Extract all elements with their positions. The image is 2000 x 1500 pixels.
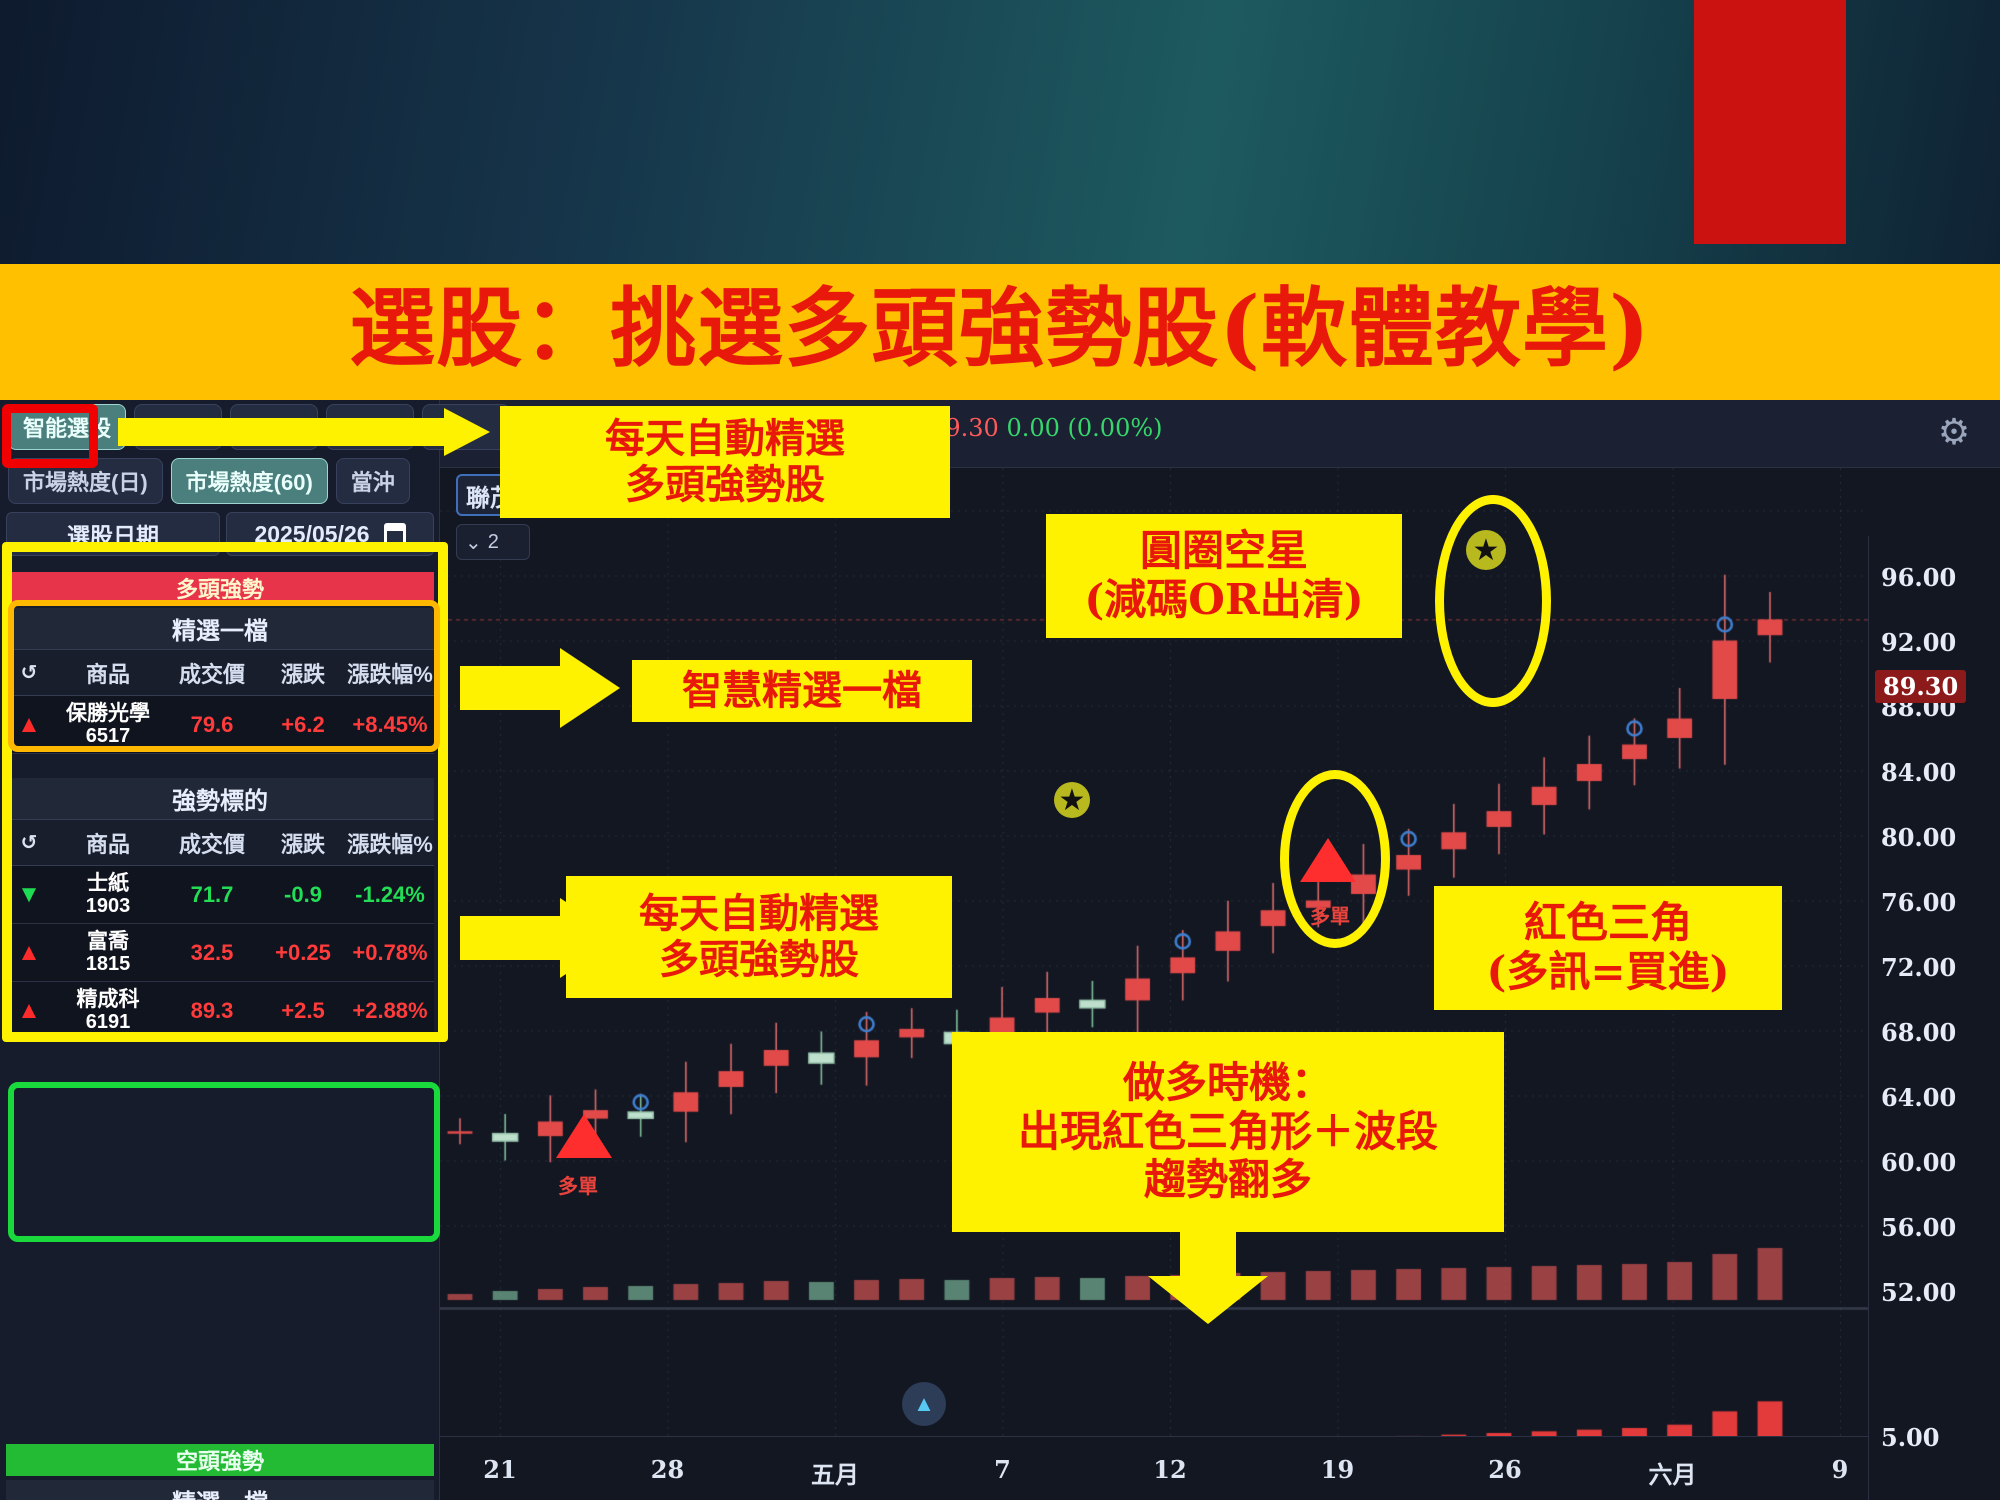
annotation-line: 趨勢翻多	[1144, 1156, 1312, 1205]
annotation-long-timing: 做多時機：出現紅色三角形＋波段趨勢翻多	[952, 1032, 1504, 1232]
price-tick: 92.00	[1881, 628, 1956, 657]
annotation-line: 紅色三角	[1524, 899, 1692, 948]
time-tick: 六月	[1649, 1455, 1697, 1490]
price-tick: 72.00	[1881, 953, 1956, 982]
time-tick: 五月	[811, 1455, 859, 1490]
quote-change: 0.00	[1006, 414, 1059, 442]
period-value: 2	[488, 531, 499, 554]
red-triangle-label-left: 多單	[558, 1170, 598, 1199]
highlight-ellipse-top	[1435, 495, 1551, 707]
price-tick: 64.00	[1881, 1083, 1956, 1112]
time-tick: 21	[483, 1455, 516, 1484]
time-axis[interactable]: 2128五月7121926六月9	[440, 1436, 1868, 1500]
time-tick: 9	[1832, 1455, 1849, 1484]
time-tick: 26	[1488, 1455, 1521, 1484]
highlight-long-featured	[8, 600, 440, 752]
star-marker-left: ★	[1054, 782, 1090, 818]
page-title: 選股：挑選多頭強勢股(軟體教學)	[0, 274, 2000, 384]
price-tick: 52.00	[1881, 1278, 1956, 1307]
time-tick: 7	[994, 1455, 1011, 1484]
price-axis[interactable]: 96.0092.0088.0084.0080.0076.0072.0068.00…	[1868, 536, 2000, 1500]
table-title: 精選一檔	[6, 1480, 434, 1500]
annotation-line: 圓圈空星	[1140, 527, 1308, 576]
price-tick: 84.00	[1881, 758, 1956, 787]
screener-subtab-當沖[interactable]: 當沖	[336, 458, 410, 504]
time-tick: 19	[1321, 1455, 1354, 1484]
volume-tick: 5.00	[1881, 1423, 1939, 1452]
annotation-line: 智慧精選一檔	[682, 668, 922, 714]
price-tick: 60.00	[1881, 1148, 1956, 1177]
annotation-line: 出現紅色三角形＋波段	[1018, 1108, 1438, 1157]
highlight-smart-screener	[2, 404, 98, 468]
price-tick: 80.00	[1881, 823, 1956, 852]
annotation-smart-pick: 智慧精選一檔	[632, 660, 972, 722]
red-triangle-marker-left	[556, 1114, 612, 1158]
red-triangle-label-mid: 多單	[1310, 900, 1350, 929]
decorative-top-band	[0, 0, 2000, 268]
annotation-line: 每天自動精選	[605, 416, 845, 462]
annotation-line: (多訊=買進)	[1487, 948, 1730, 997]
price-tick: 68.00	[1881, 1018, 1956, 1047]
price-tick: 96.00	[1881, 563, 1956, 592]
annotation-daily-pick-bottom: 每天自動精選多頭強勢股	[566, 876, 952, 998]
decorative-red-block	[1694, 0, 1846, 244]
gear-icon[interactable]: ⚙	[1934, 412, 1974, 452]
annotation-line: 多頭強勢股	[625, 462, 825, 508]
annotation-line: 做多時機：	[1123, 1059, 1333, 1108]
arrow-down-to-indicator	[1148, 1232, 1268, 1324]
short-featured-table[interactable]: 精選一檔↺商品成交價漲跌漲跌幅%▼期長榮航261842-0.4-0.94%	[6, 1480, 434, 1500]
current-price-tick: 89.30	[1875, 670, 1966, 703]
time-tick: 12	[1153, 1455, 1186, 1484]
annotation-red-triangle: 紅色三角(多訊=買進)	[1434, 886, 1782, 1010]
annotation-line: (減碼OR出清)	[1084, 576, 1363, 625]
red-triangle-marker-mid	[1300, 838, 1356, 882]
annotation-daily-pick-top: 每天自動精選多頭強勢股	[500, 406, 950, 518]
highlight-short-featured	[8, 1082, 440, 1242]
chart-logo-icon: ▲	[902, 1382, 946, 1426]
chevron-down-icon: ⌄	[465, 530, 482, 555]
star-marker-top: ★	[1466, 530, 1506, 570]
screener-subtab-市場熱度(60)[interactable]: 市場熱度(60)	[171, 458, 328, 504]
annotation-line: 多頭強勢股	[659, 937, 859, 983]
period-selector[interactable]: ⌄ 2	[456, 524, 530, 560]
annotation-line: 每天自動精選	[639, 891, 879, 937]
time-tick: 28	[651, 1455, 684, 1484]
price-tick: 56.00	[1881, 1213, 1956, 1242]
arrow-to-screener	[118, 408, 490, 456]
quote-percent: (0.00%)	[1068, 414, 1163, 442]
short-section-header: 空頭強勢	[6, 1444, 434, 1476]
price-tick: 76.00	[1881, 888, 1956, 917]
annotation-circle-star: 圓圈空星(減碼OR出清)	[1046, 514, 1402, 638]
arrow-to-featured	[460, 648, 620, 728]
